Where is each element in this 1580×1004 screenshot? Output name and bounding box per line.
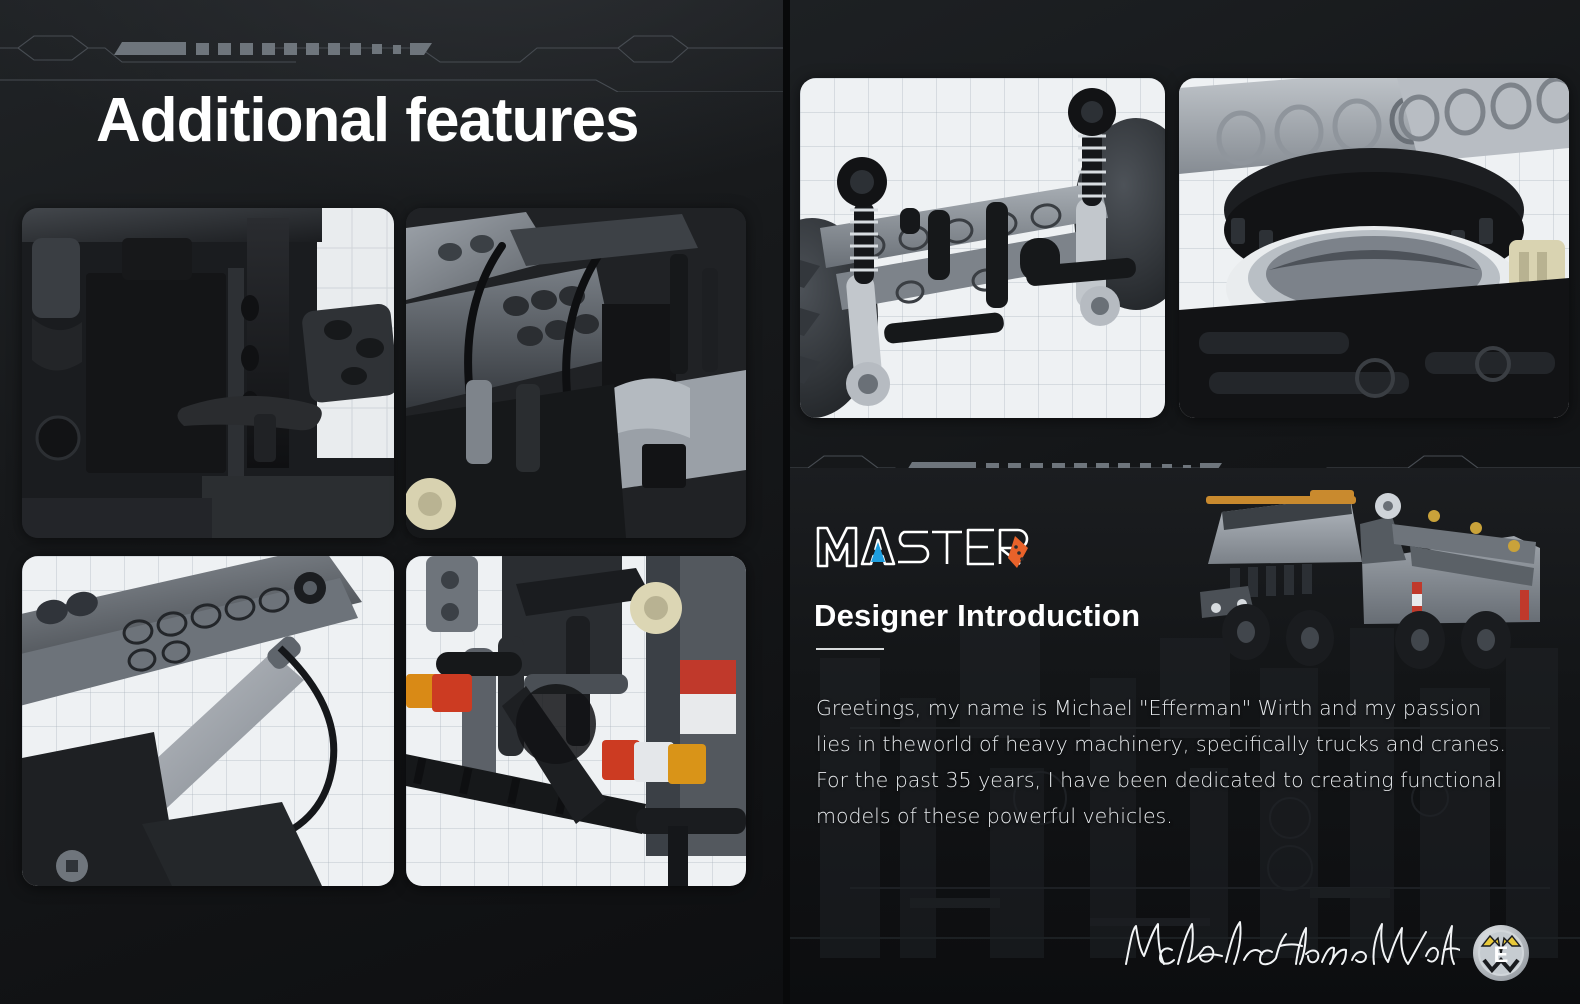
designer-bio-text: Greetings, my name is Michael "Efferman"… (816, 690, 1506, 834)
left-panel: Additional features (0, 0, 783, 1004)
right-panel: Designer Introduction Greetings, my name… (790, 0, 1580, 1004)
photo-engine-bay[interactable] (406, 208, 746, 538)
photo-suspension-art (800, 78, 1165, 418)
panel-divider (783, 0, 790, 1004)
photo-turntable-gear[interactable] (1179, 78, 1569, 418)
photo-engine-bay-art (406, 208, 746, 538)
feature-photo-grid (22, 208, 762, 886)
detail-photo-row (800, 78, 1570, 418)
photo-cabin-interior[interactable] (22, 208, 394, 538)
page-title: Additional features (96, 88, 639, 153)
product-truck-image (1184, 472, 1580, 672)
heading-underline (816, 648, 884, 650)
photo-rear-lights-art (406, 556, 746, 886)
photo-cabin-interior-art (22, 208, 394, 538)
designer-signature (1120, 916, 1460, 974)
badge-letter: E (1494, 942, 1509, 967)
photo-rear-lights-bumper[interactable] (406, 556, 746, 886)
designer-badge: E (1472, 924, 1530, 982)
photo-suspension-axle[interactable] (800, 78, 1165, 418)
designer-introduction-section: Designer Introduction Greetings, my name… (790, 468, 1580, 1004)
hud-decoration-left (0, 28, 783, 92)
photo-turntable-art (1179, 78, 1569, 418)
photo-crane-boom-cylinder[interactable] (22, 556, 394, 886)
master-brand-logo (812, 518, 1032, 574)
slide-root: Additional features (0, 0, 1580, 1004)
photo-crane-boom-art (22, 556, 394, 886)
designer-heading: Designer Introduction (814, 598, 1140, 634)
